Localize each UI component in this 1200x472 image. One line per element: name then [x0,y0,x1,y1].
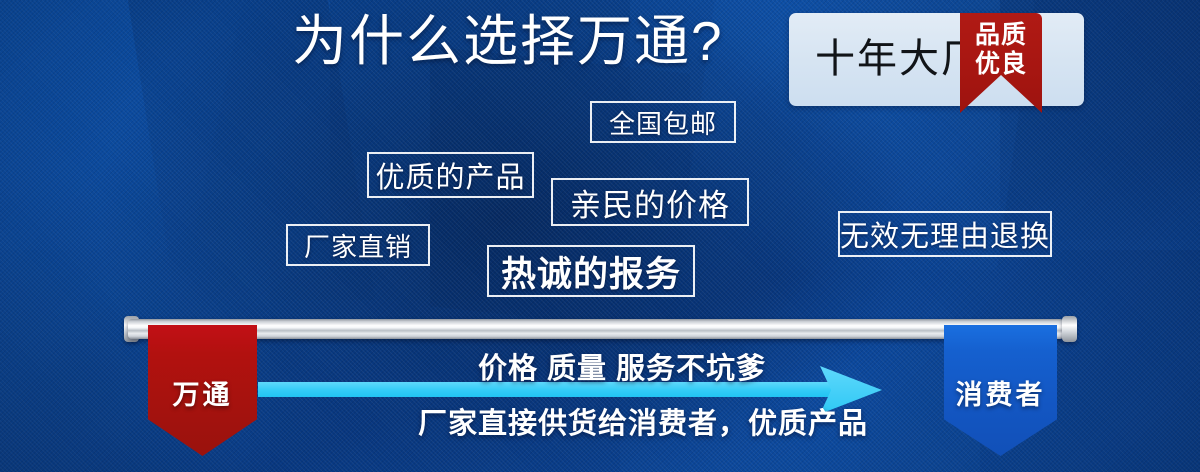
feature-tag-return: 无效无理由退换 [838,211,1052,257]
rod-cap-right [1062,316,1077,342]
feature-tag-direct-sale: 厂家直销 [286,224,430,266]
slogan-secondary: 厂家直接供货给消费者，优质产品 [418,407,868,441]
feature-tag-service: 热诚的报务 [487,245,695,297]
feature-tag-price: 亲民的价格 [551,178,749,226]
metal-rod [128,319,1064,339]
factory-badge: 十年大厂 品质 优良 [789,13,1084,106]
feature-tag-quality: 优质的产品 [367,152,534,198]
quality-ribbon: 品质 优良 [960,13,1042,113]
target-pennant-label: 消费者 [944,373,1057,412]
source-pennant-label: 万通 [148,373,257,412]
quality-ribbon-line1: 品质 [960,21,1042,50]
feature-tag-shipping: 全国包邮 [590,101,736,143]
slogan-primary: 价格 质量 服务不坑爹 [478,352,766,386]
quality-ribbon-line2: 优良 [960,50,1042,79]
promo-banner: 为什么选择万通? 十年大厂 品质 优良 全国包邮 优质的产品 亲民的价格 厂家直… [0,0,1200,472]
factory-badge-label: 十年大厂 [815,33,983,85]
page-title: 为什么选择万通? [292,14,724,69]
